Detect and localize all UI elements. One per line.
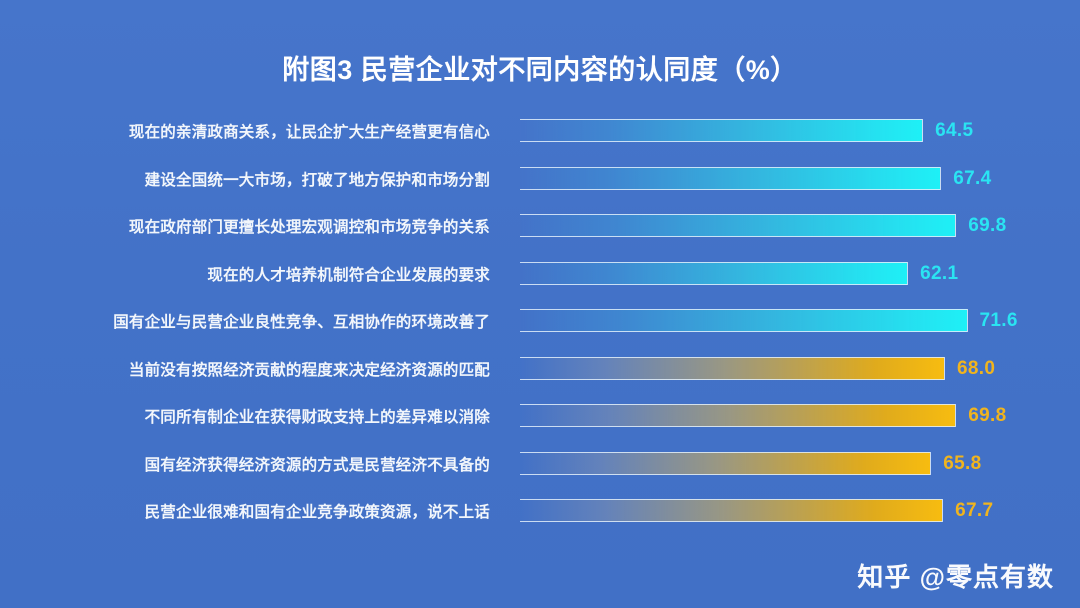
bar-track: 69.8 (520, 403, 1080, 429)
bar-value-label: 68.0 (957, 356, 995, 382)
bar-category-label: 现在的人才培养机制符合企业发展的要求 (0, 263, 490, 285)
bar-row: 国有企业与民营企业良性竞争、互相协作的环境改善了71.6 (0, 308, 1080, 334)
bar (520, 262, 908, 285)
bar (520, 404, 956, 427)
bar-value-label: 69.8 (968, 403, 1006, 429)
bar (520, 167, 941, 190)
bar-row: 民营企业很难和国有企业竞争政策资源，说不上话67.7 (0, 498, 1080, 524)
bar-track: 67.7 (520, 498, 1080, 524)
bar-category-label: 国有经济获得经济资源的方式是民营经济不具备的 (0, 453, 490, 475)
chart-container: 附图3 民营企业对不同内容的认同度（%） 现在的亲清政商关系，让民企扩大生产经营… (0, 0, 1080, 608)
bar-row: 现在的人才培养机制符合企业发展的要求62.1 (0, 261, 1080, 287)
bar-category-label: 建设全国统一大市场，打破了地方保护和市场分割 (0, 168, 490, 190)
bar (520, 214, 956, 237)
bar-value-label: 71.6 (980, 308, 1018, 334)
chart-title: 附图3 民营企业对不同内容的认同度（%） (0, 48, 1080, 87)
bar-track: 62.1 (520, 261, 1080, 287)
bar-value-label: 62.1 (920, 261, 958, 287)
bar-row: 国有经济获得经济资源的方式是民营经济不具备的65.8 (0, 451, 1080, 477)
bar-track: 64.5 (520, 118, 1080, 144)
bar-track: 67.4 (520, 166, 1080, 192)
watermark: 知乎 @零点有数 (857, 557, 1054, 594)
bar (520, 309, 968, 332)
bar-value-label: 65.8 (943, 451, 981, 477)
bar-chart-plot-area: 现在的亲清政商关系，让民企扩大生产经营更有信心64.5建设全国统一大市场，打破了… (0, 118, 1080, 538)
bar-row: 建设全国统一大市场，打破了地方保护和市场分割67.4 (0, 166, 1080, 192)
bar-track: 65.8 (520, 451, 1080, 477)
bar-track: 71.6 (520, 308, 1080, 334)
bar-track: 68.0 (520, 356, 1080, 382)
bar-value-label: 67.4 (953, 166, 991, 192)
bar (520, 452, 931, 475)
bar-value-label: 67.7 (955, 498, 993, 524)
bar-category-label: 现在的亲清政商关系，让民企扩大生产经营更有信心 (0, 120, 490, 142)
bar-row: 当前没有按照经济贡献的程度来决定经济资源的匹配68.0 (0, 356, 1080, 382)
bar-value-label: 69.8 (968, 213, 1006, 239)
bar (520, 357, 945, 380)
bar-track: 69.8 (520, 213, 1080, 239)
bar-category-label: 当前没有按照经济贡献的程度来决定经济资源的匹配 (0, 358, 490, 380)
bar-row: 现在的亲清政商关系，让民企扩大生产经营更有信心64.5 (0, 118, 1080, 144)
bar-row: 现在政府部门更擅长处理宏观调控和市场竞争的关系69.8 (0, 213, 1080, 239)
bar-category-label: 现在政府部门更擅长处理宏观调控和市场竞争的关系 (0, 215, 490, 237)
bar-category-label: 不同所有制企业在获得财政支持上的差异难以消除 (0, 405, 490, 427)
bar (520, 119, 923, 142)
bar (520, 499, 943, 522)
bar-category-label: 国有企业与民营企业良性竞争、互相协作的环境改善了 (0, 310, 490, 332)
bar-value-label: 64.5 (935, 118, 973, 144)
bar-category-label: 民营企业很难和国有企业竞争政策资源，说不上话 (0, 500, 490, 522)
bar-row: 不同所有制企业在获得财政支持上的差异难以消除69.8 (0, 403, 1080, 429)
